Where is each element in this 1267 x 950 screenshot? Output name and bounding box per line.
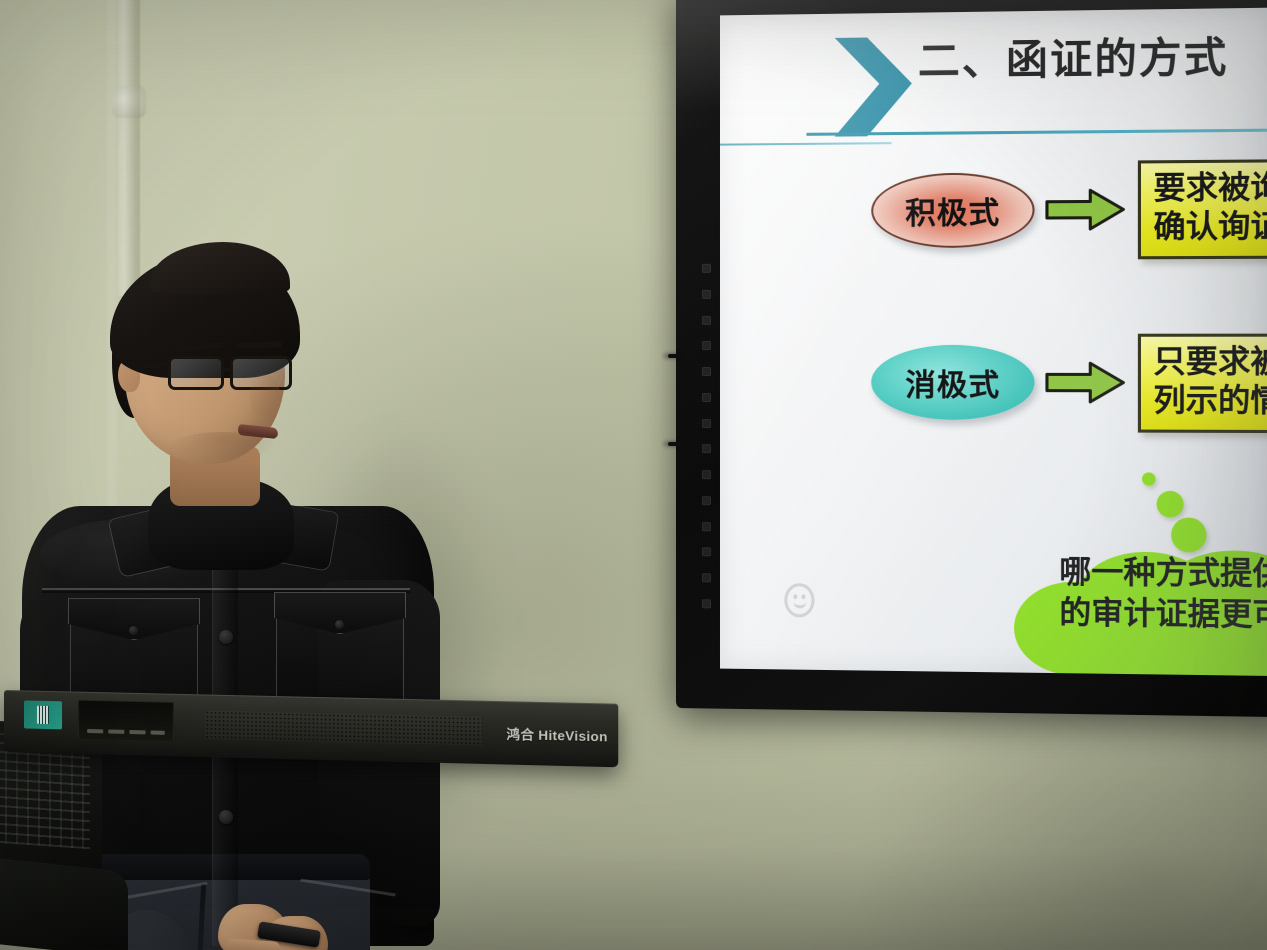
device-sticker <box>24 700 62 729</box>
lens-left <box>168 356 224 390</box>
nose <box>250 374 280 416</box>
volume-up-icon[interactable] <box>701 444 710 453</box>
freeze-icon[interactable] <box>701 393 710 402</box>
qr-code-icon <box>37 706 49 724</box>
brand-label: 鸿合 HiteVision <box>507 724 608 746</box>
jacket-button <box>219 630 233 644</box>
menu-icon[interactable] <box>701 290 710 299</box>
callout-line: 确认询证 <box>1153 208 1267 248</box>
brightness-icon[interactable] <box>701 367 710 376</box>
callout-line: 只要求被 <box>1153 343 1267 382</box>
cloud-line: 哪一种方式提供 <box>1059 553 1267 596</box>
callout-box-positive: 要求被询 确认询证 <box>1138 159 1267 259</box>
source-icon[interactable] <box>701 341 710 350</box>
volume-down-icon[interactable] <box>701 470 710 479</box>
settings-icon[interactable] <box>701 496 710 505</box>
chin-shading <box>168 432 278 466</box>
pocket-button-right <box>335 620 344 629</box>
home-icon[interactable] <box>701 315 710 324</box>
thought-bubble-medium <box>1157 491 1184 518</box>
power-icon[interactable] <box>701 264 710 273</box>
slide-title: 二、函证的方式 <box>918 23 1228 88</box>
back-icon[interactable] <box>701 419 710 428</box>
label-ellipse-negative: 消极式 <box>871 345 1034 420</box>
chevron-icon <box>833 33 920 141</box>
annotate-icon[interactable] <box>701 522 710 531</box>
callout-line: 要求被询 <box>1153 169 1267 209</box>
title-divider-left <box>720 142 892 146</box>
cloud-line: 的审计证据更可 <box>1059 594 1267 637</box>
slide-row-positive: 积极式 要求被询 确认询证 <box>871 159 1267 260</box>
speaker-grill <box>205 711 482 746</box>
label-ellipse-positive: 积极式 <box>871 173 1034 249</box>
bezel-mount-nub <box>668 354 684 358</box>
chair <box>0 724 134 950</box>
wall-pipe-joint <box>112 86 146 118</box>
thought-cloud-text: 哪一种方式提供 的审计证据更可 <box>1059 553 1267 636</box>
photo-scene: 二、函证的方式 积极式 要求被询 确认询证 消极式 <box>0 0 1267 950</box>
smiley-face-icon <box>784 583 814 617</box>
thought-cloud: 哪一种方式提供 的审计证据更可 <box>1012 458 1267 676</box>
right-arrow-icon <box>1045 187 1126 232</box>
chair-seat <box>0 856 128 950</box>
capture-icon[interactable] <box>701 573 710 582</box>
display-side-controls[interactable] <box>698 258 714 615</box>
thought-bubble-small <box>1142 472 1155 485</box>
port-bay[interactable] <box>78 700 174 742</box>
hair-top <box>150 242 290 294</box>
callout-box-negative: 只要求被 列示的情 <box>1138 334 1267 433</box>
presentation-slide: 二、函证的方式 积极式 要求被询 确认询证 消极式 <box>720 8 1267 676</box>
glasses-bridge <box>224 368 232 371</box>
pocket-button-left <box>129 626 138 635</box>
eyeglasses <box>168 356 300 396</box>
slide-row-negative: 消极式 只要求被 列示的情 <box>871 334 1267 433</box>
bezel-mount-nub <box>668 442 684 446</box>
interactive-display[interactable]: 二、函证的方式 积极式 要求被询 确认询证 消极式 <box>676 0 1267 717</box>
blank-icon[interactable] <box>701 599 710 608</box>
display-screen[interactable]: 二、函证的方式 积极式 要求被询 确认询证 消极式 <box>720 8 1267 676</box>
callout-line: 列示的情 <box>1153 382 1267 422</box>
right-arrow-icon <box>1045 361 1126 406</box>
jacket-button <box>219 810 233 824</box>
usb-icon[interactable] <box>701 548 710 557</box>
